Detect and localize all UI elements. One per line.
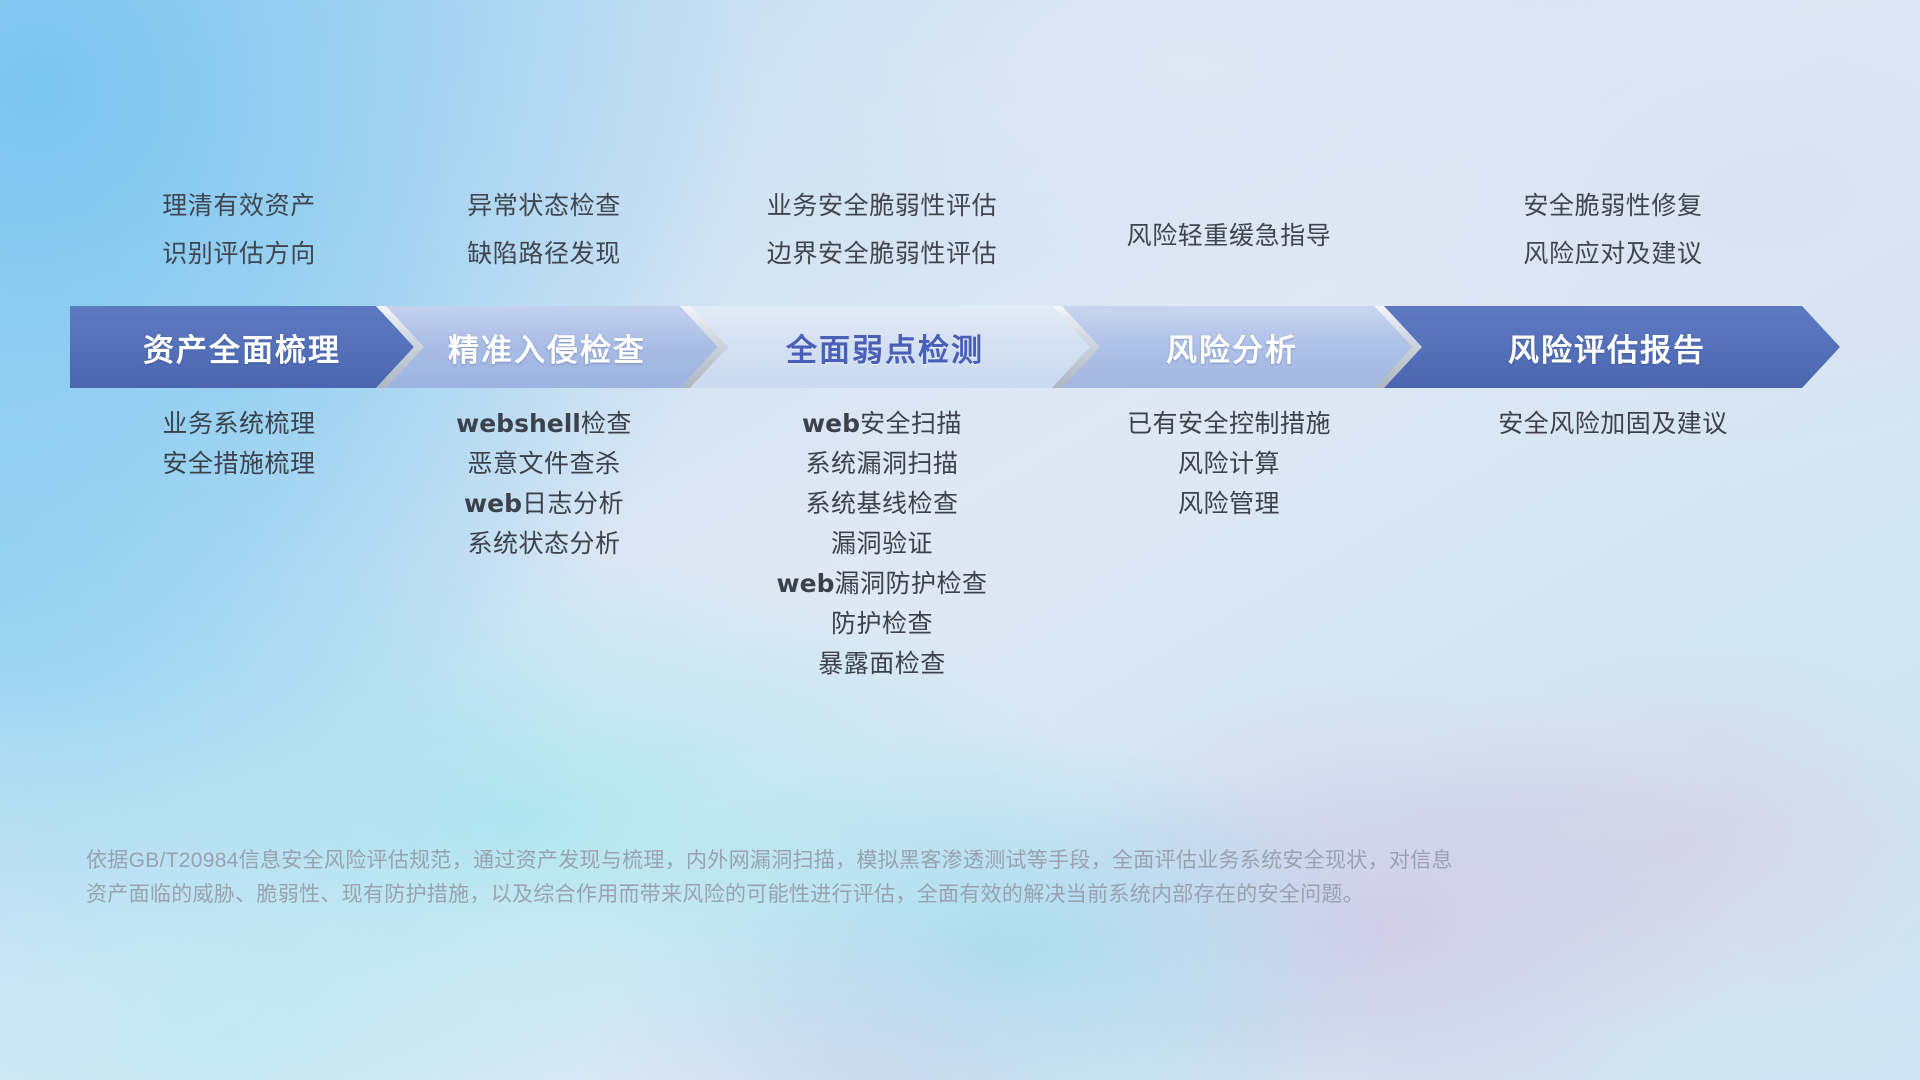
top-labels-stage-1: 理清有效资产 识别评估方向 <box>86 182 392 290</box>
list-item: 风险管理 <box>1068 484 1390 524</box>
list-item: web安全扫描 <box>696 404 1068 444</box>
top-labels-stage-2: 异常状态检查 缺陷路径发现 <box>392 182 696 290</box>
chevron-label: 风险评估报告 <box>1508 325 1706 370</box>
list-item: 暴露面检查 <box>696 644 1068 684</box>
process-flow-diagram: 理清有效资产 识别评估方向 异常状态检查 缺陷路径发现 业务安全脆弱性评估 边界… <box>0 0 1920 1080</box>
top-labels-stage-5: 安全脆弱性修复 风险应对及建议 <box>1390 182 1836 290</box>
chevron-label: 资产全面梳理 <box>143 325 341 370</box>
top-label: 识别评估方向 <box>86 230 392 278</box>
item-list-stage-2: webshell检查 恶意文件查杀 web日志分析 系统状态分析 <box>392 404 696 564</box>
bottom-item-lists: 业务系统梳理 安全措施梳理 webshell检查 恶意文件查杀 web日志分析 … <box>86 404 1836 684</box>
list-item: 业务系统梳理 <box>86 404 392 444</box>
chevron-stage-1[interactable]: 资产全面梳理 <box>70 306 414 388</box>
footer-line-2: 资产面临的威胁、脆弱性、现有防护措施，以及综合作用而带来风险的可能性进行评估，全… <box>86 878 1606 912</box>
top-label: 缺陷路径发现 <box>392 230 696 278</box>
list-item: 系统基线检查 <box>696 484 1068 524</box>
top-labels-stage-4: 风险轻重缓急指导 <box>1068 182 1390 290</box>
list-item: webshell检查 <box>392 404 696 444</box>
chevron-label: 全面弱点检测 <box>786 325 984 370</box>
list-item-suffix: 日志分析 <box>522 490 624 518</box>
list-item: 安全风险加固及建议 <box>1390 404 1836 444</box>
footer-line-1: 依据GB/T20984信息安全风险评估规范，通过资产发现与梳理，内外网漏洞扫描，… <box>86 844 1606 878</box>
item-list-stage-3: web安全扫描 系统漏洞扫描 系统基线检查 漏洞验证 web漏洞防护检查 防护检… <box>696 404 1068 684</box>
list-item: 恶意文件查杀 <box>392 444 696 484</box>
list-item: 防护检查 <box>696 604 1068 644</box>
list-item: 系统状态分析 <box>392 524 696 564</box>
item-list-stage-5: 安全风险加固及建议 <box>1390 404 1836 444</box>
top-label: 业务安全脆弱性评估 <box>696 182 1068 230</box>
list-item-suffix: 漏洞防护检查 <box>834 570 987 598</box>
list-item-suffix: 安全扫描 <box>860 410 962 438</box>
list-item: 漏洞验证 <box>696 524 1068 564</box>
top-label: 安全脆弱性修复 <box>1390 182 1836 230</box>
list-item: 系统漏洞扫描 <box>696 444 1068 484</box>
chevron-label: 风险分析 <box>1166 325 1298 370</box>
item-list-stage-1: 业务系统梳理 安全措施梳理 <box>86 404 392 484</box>
chevron-stage-2[interactable]: 精准入侵检查 <box>376 306 718 388</box>
list-item-suffix: 检查 <box>581 410 632 438</box>
list-item: web漏洞防护检查 <box>696 564 1068 604</box>
footer-description: 依据GB/T20984信息安全风险评估规范，通过资产发现与梳理，内外网漏洞扫描，… <box>86 844 1606 912</box>
top-label: 风险轻重缓急指导 <box>1068 212 1390 260</box>
item-list-stage-4: 已有安全控制措施 风险计算 风险管理 <box>1068 404 1390 524</box>
chevron-stage-3[interactable]: 全面弱点检测 <box>680 306 1090 388</box>
chevron-label: 精准入侵检查 <box>448 325 646 370</box>
list-item: web日志分析 <box>392 484 696 524</box>
chevron-stage-5[interactable]: 风险评估报告 <box>1374 306 1840 388</box>
stage-chevron-band: 资产全面梳理 精准入侵检查 全面弱点检测 风险分析 风险评估报告 <box>70 306 1840 388</box>
chevron-stage-4[interactable]: 风险分析 <box>1052 306 1412 388</box>
top-labels-stage-3: 业务安全脆弱性评估 边界安全脆弱性评估 <box>696 182 1068 290</box>
top-label: 风险应对及建议 <box>1390 230 1836 278</box>
top-label: 理清有效资产 <box>86 182 392 230</box>
top-label: 异常状态检查 <box>392 182 696 230</box>
list-item: 安全措施梳理 <box>86 444 392 484</box>
top-label: 边界安全脆弱性评估 <box>696 230 1068 278</box>
list-item: 已有安全控制措施 <box>1068 404 1390 444</box>
list-item: 风险计算 <box>1068 444 1390 484</box>
top-label-row: 理清有效资产 识别评估方向 异常状态检查 缺陷路径发现 业务安全脆弱性评估 边界… <box>86 182 1836 290</box>
